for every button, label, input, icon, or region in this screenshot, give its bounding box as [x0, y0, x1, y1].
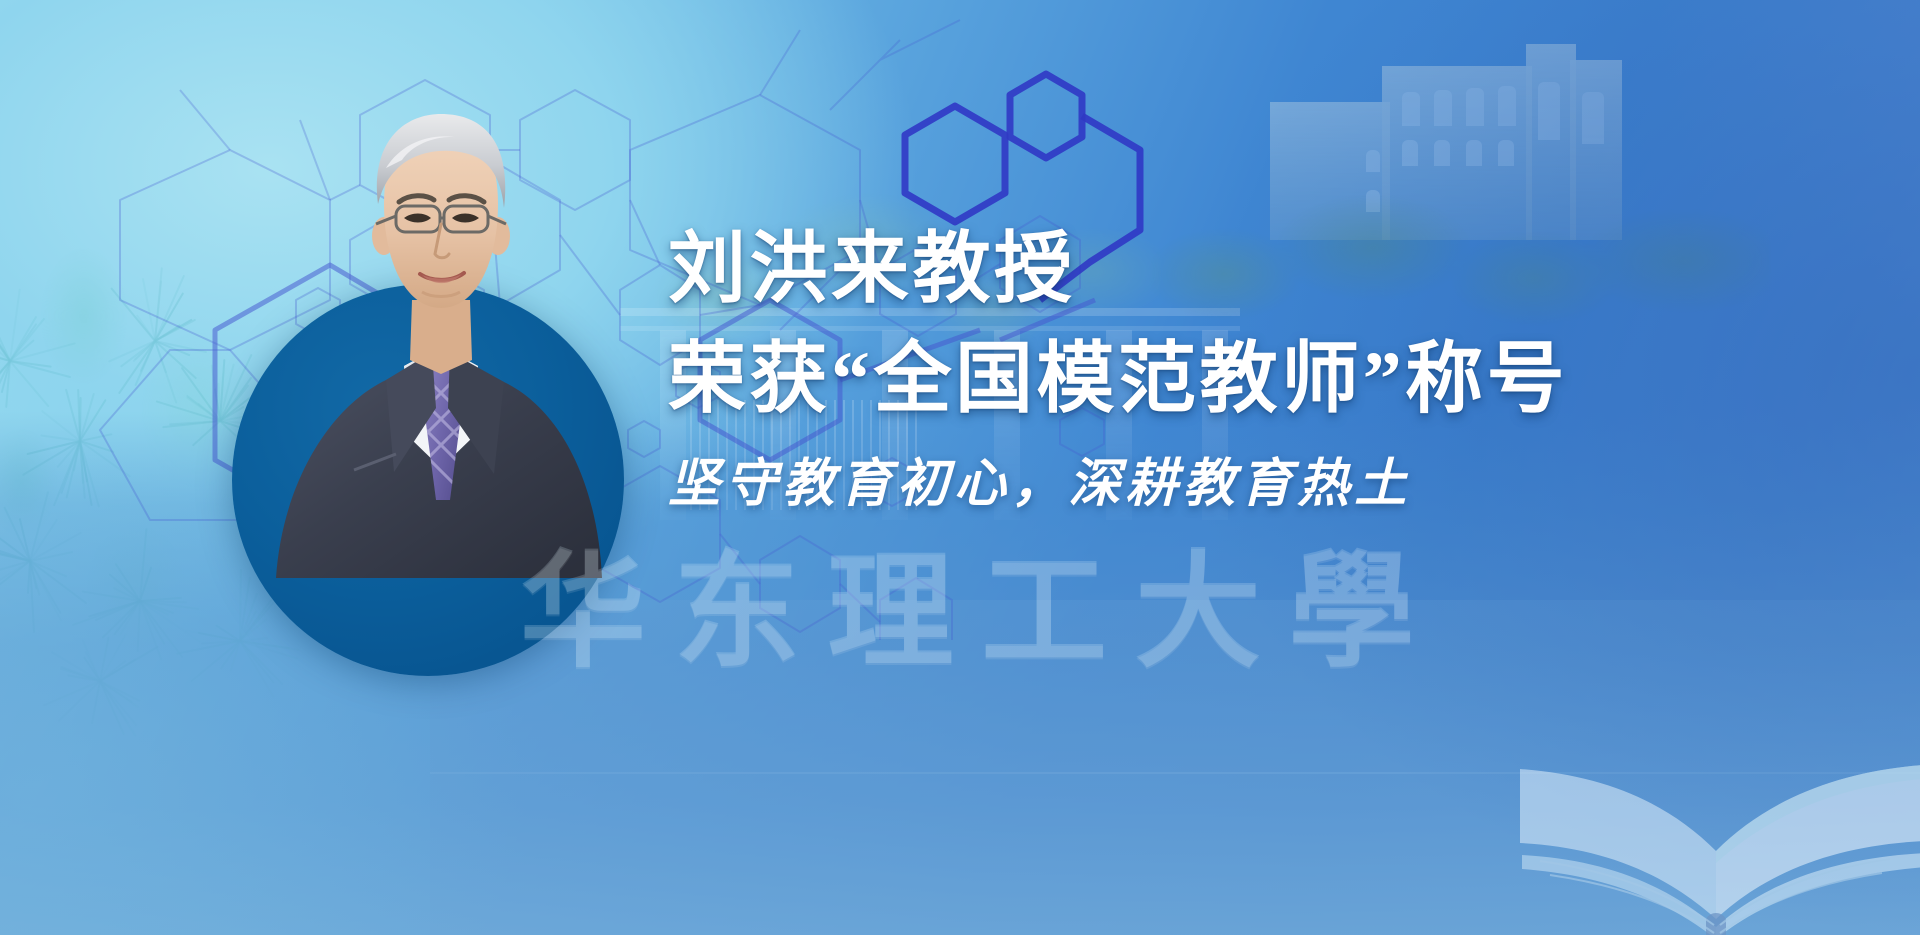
portrait-of-professor	[236, 108, 636, 578]
promo-banner: 华东理工大學 刘洪来教授 荣获“全国模范教师”称号 坚守教育初心，深耕教育热土	[0, 0, 1920, 935]
headline-line-1: 刘洪来教授	[668, 230, 1848, 308]
headline-block: 刘洪来教授 荣获“全国模范教师”称号 坚守教育初心，深耕教育热土	[668, 230, 1848, 510]
open-book-illustration	[1510, 619, 1920, 935]
headline-line-2: 荣获“全国模范教师”称号	[668, 340, 1848, 418]
headline-subtitle: 坚守教育初心，深耕教育热土	[668, 458, 1848, 510]
